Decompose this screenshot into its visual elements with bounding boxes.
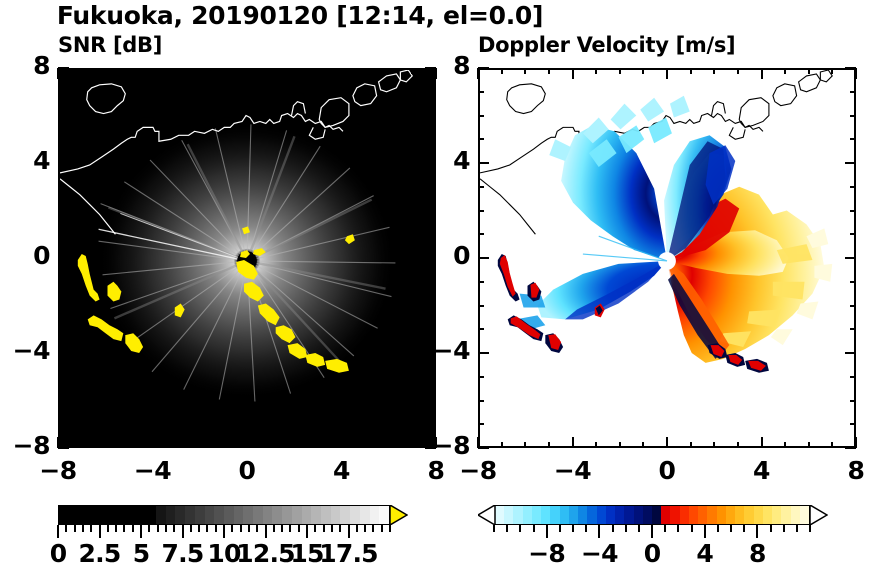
- y-tick-right-snr: [430, 423, 436, 425]
- colorbar-tick: [281, 525, 283, 532]
- x-tick-doppler: [761, 437, 763, 448]
- colorbar-tick: [730, 525, 732, 532]
- colorbar-segment: [495, 506, 504, 524]
- colorbar-tick: [519, 525, 521, 532]
- y-tick-right-doppler: [850, 376, 856, 378]
- colorbar-tick: [107, 525, 109, 532]
- y-tick-doppler: [478, 67, 489, 69]
- y-tick-doppler: [478, 91, 484, 93]
- colorbar-tick: [198, 525, 200, 532]
- colorbar-tick: [533, 525, 535, 532]
- y-tick-right-doppler: [850, 115, 856, 117]
- x-tick-top-snr: [128, 68, 130, 74]
- colorbar-tick: [783, 525, 785, 532]
- colorbar-segment: [69, 506, 79, 524]
- colorbar-segment: [98, 506, 108, 524]
- colorbar-tick: [546, 525, 548, 538]
- y-axis-label-snr: 0: [0, 241, 50, 270]
- colorbar-segment: [578, 506, 587, 524]
- x-tick-doppler: [690, 442, 692, 448]
- y-tick-snr: [58, 352, 69, 354]
- colorbar-segment: [606, 506, 615, 524]
- colorbar-tick: [356, 525, 358, 532]
- y-tick-right-snr: [430, 281, 436, 283]
- x-tick-doppler: [501, 442, 503, 448]
- x-tick-snr: [104, 442, 106, 448]
- x-tick-top-doppler: [501, 68, 503, 74]
- x-tick-snr: [388, 442, 390, 448]
- y-axis-label-snr: −4: [0, 336, 50, 365]
- colorbar-segment: [781, 506, 790, 524]
- colorbar-tick: [206, 525, 208, 532]
- x-tick-top-snr: [246, 68, 248, 79]
- y-tick-doppler: [478, 186, 484, 188]
- colorbar-segment: [560, 506, 569, 524]
- x-tick-top-doppler: [808, 68, 810, 74]
- y-tick-right-doppler: [850, 400, 856, 402]
- colorbar-tick: [756, 525, 758, 538]
- figure-title: Fukuoka, 20190120 [12:14, el=0.0]: [0, 1, 600, 30]
- colorbar-tick: [651, 525, 653, 538]
- colorbar-segment: [175, 506, 185, 524]
- colorbar-tick: [323, 525, 325, 532]
- colorbar-tick: [165, 525, 167, 532]
- colorbar-tick: [598, 525, 600, 538]
- y-tick-right-doppler: [850, 328, 856, 330]
- colorbar-segment: [370, 506, 380, 524]
- colorbar-tick: [612, 525, 614, 532]
- colorbar-segment: [224, 506, 234, 524]
- colorbar-tick: [348, 525, 350, 538]
- colorbar-tick: [339, 525, 341, 532]
- colorbar-tick: [585, 525, 587, 532]
- colorbar-tick: [215, 525, 217, 532]
- y-tick-right-doppler: [850, 423, 856, 425]
- x-tick-top-snr: [293, 68, 295, 74]
- colorbar-tick: [223, 525, 225, 538]
- colorbar-arrow-min-outline: [478, 505, 496, 525]
- colorbar-segment: [360, 506, 370, 524]
- y-tick-snr: [58, 257, 69, 259]
- y-tick-snr: [58, 138, 64, 140]
- x-tick-doppler: [737, 442, 739, 448]
- snr-colorbar[interactable]: [58, 505, 390, 525]
- y-tick-snr: [58, 91, 64, 93]
- doppler-plot-area[interactable]: [478, 68, 856, 448]
- y-tick-snr: [58, 400, 64, 402]
- x-tick-doppler: [524, 442, 526, 448]
- y-tick-doppler: [478, 400, 484, 402]
- x-tick-top-doppler: [524, 68, 526, 74]
- x-tick-top-doppler: [784, 68, 786, 74]
- y-axis-label-doppler: 8: [420, 51, 470, 80]
- y-tick-doppler: [478, 352, 489, 354]
- colorbar-tick: [148, 525, 150, 532]
- x-tick-doppler: [642, 442, 644, 448]
- x-tick-top-doppler: [477, 68, 479, 79]
- y-tick-snr: [58, 305, 64, 307]
- x-tick-top-snr: [175, 68, 177, 74]
- x-tick-doppler: [619, 442, 621, 448]
- colorbar-segment: [137, 506, 147, 524]
- y-tick-doppler: [478, 423, 484, 425]
- colorbar-tick: [331, 525, 333, 532]
- colorbar-tick: [796, 525, 798, 532]
- x-tick-snr: [175, 442, 177, 448]
- y-tick-snr: [58, 328, 64, 330]
- x-tick-top-snr: [81, 68, 83, 74]
- y-tick-right-doppler: [845, 447, 856, 449]
- colorbar-tick: [115, 525, 117, 532]
- colorbar-tick: [372, 525, 374, 532]
- colorbar-segment: [680, 506, 689, 524]
- colorbar-segment: [117, 506, 127, 524]
- radar-figure: Fukuoka, 20190120 [12:14, el=0.0] SNR [d…: [0, 0, 870, 570]
- y-tick-right-doppler: [850, 305, 856, 307]
- x-tick-top-doppler: [572, 68, 574, 79]
- colorbar-tick: [173, 525, 175, 532]
- y-tick-snr: [58, 162, 69, 164]
- colorbar-segment: [661, 506, 670, 524]
- colorbar-tick: [240, 525, 242, 532]
- x-tick-top-snr: [341, 68, 343, 79]
- colorbar-tick: [99, 525, 101, 538]
- y-tick-right-doppler: [845, 352, 856, 354]
- x-axis-label-snr: −8: [18, 456, 98, 485]
- colorbar-tick: [364, 525, 366, 532]
- colorbar-segment: [624, 506, 633, 524]
- colorbar-tick: [625, 525, 627, 532]
- colorbar-tick: [691, 525, 693, 532]
- y-tick-right-snr: [430, 328, 436, 330]
- colorbar-segment: [763, 506, 772, 524]
- snr-plot-area[interactable]: [58, 68, 436, 448]
- colorbar-tick: [704, 525, 706, 538]
- colorbar-tick: [638, 525, 640, 532]
- y-tick-right-doppler: [850, 233, 856, 235]
- y-tick-snr: [58, 281, 64, 283]
- y-tick-right-doppler: [850, 186, 856, 188]
- x-tick-top-snr: [388, 68, 390, 74]
- colorbar-tick: [506, 525, 508, 532]
- y-tick-doppler: [478, 138, 484, 140]
- colorbar-segment: [597, 506, 606, 524]
- x-tick-doppler: [808, 442, 810, 448]
- colorbar-segment: [331, 506, 341, 524]
- x-axis-label-snr: −4: [113, 456, 193, 485]
- y-tick-right-snr: [430, 210, 436, 212]
- x-tick-doppler: [831, 442, 833, 448]
- colorbar-tick: [273, 525, 275, 532]
- colorbar-tick: [809, 525, 811, 532]
- colorbar-tick: [306, 525, 308, 538]
- colorbar-segment: [504, 506, 513, 524]
- x-tick-snr: [152, 437, 154, 448]
- colorbar-segment: [744, 506, 753, 524]
- x-tick-snr: [128, 442, 130, 448]
- colorbar-tick: [157, 525, 159, 532]
- colorbar-segment: [350, 506, 360, 524]
- x-tick-top-snr: [152, 68, 154, 79]
- y-tick-right-snr: [430, 186, 436, 188]
- colorbar-segment: [717, 506, 726, 524]
- colorbar-arrow-max-outline: [390, 505, 408, 525]
- y-axis-label-doppler: 0: [420, 241, 470, 270]
- snr-panel-title: SNR [dB]: [58, 33, 162, 57]
- colorbar-tick: [248, 525, 250, 532]
- x-tick-top-snr: [57, 68, 59, 79]
- colorbar-segment: [78, 506, 88, 524]
- y-tick-right-snr: [430, 400, 436, 402]
- y-tick-right-doppler: [850, 281, 856, 283]
- x-axis-label-doppler: 4: [722, 456, 802, 485]
- colorbar-segment: [59, 506, 69, 524]
- colorbar-tick: [182, 525, 184, 538]
- doppler-data-layer: [480, 70, 854, 446]
- snr-colorbar-wrap: [58, 505, 406, 527]
- y-tick-right-snr: [430, 376, 436, 378]
- x-tick-doppler: [572, 437, 574, 448]
- colorbar-segment: [698, 506, 707, 524]
- colorbar-segment: [532, 506, 541, 524]
- y-tick-snr: [58, 447, 69, 449]
- colorbar-segment: [185, 506, 195, 524]
- colorbar-tick: [74, 525, 76, 532]
- y-axis-label-doppler: −4: [420, 336, 470, 365]
- x-axis-label-snr: 0: [207, 456, 287, 485]
- colorbar-segment: [234, 506, 244, 524]
- colorbar-segment: [791, 506, 800, 524]
- y-axis-label-snr: −8: [0, 431, 50, 460]
- colorbar-segment: [195, 506, 205, 524]
- colorbar-segment: [243, 506, 253, 524]
- colorbar-segment: [205, 506, 215, 524]
- x-tick-snr: [246, 437, 248, 448]
- colorbar-segment: [108, 506, 118, 524]
- x-tick-snr: [81, 442, 83, 448]
- colorbar-segment: [292, 506, 302, 524]
- colorbar-segment: [643, 506, 652, 524]
- colorbar-tick: [717, 525, 719, 532]
- colorbar-segment: [253, 506, 263, 524]
- colorbar-tick: [743, 525, 745, 532]
- colorbar-tick: [664, 525, 666, 532]
- x-tick-top-snr: [364, 68, 366, 74]
- colorbar-segment: [88, 506, 98, 524]
- y-axis-label-snr: 8: [0, 51, 50, 80]
- x-tick-snr: [411, 442, 413, 448]
- y-tick-snr: [58, 115, 64, 117]
- colorbar-tick: [298, 525, 300, 532]
- doppler-colorbar[interactable]: [494, 505, 810, 525]
- snr-data-layer: [60, 70, 434, 446]
- colorbar-tick: [677, 525, 679, 532]
- y-axis-label-doppler: 4: [420, 146, 470, 175]
- colorbar-segment: [523, 506, 532, 524]
- x-axis-label-doppler: −4: [533, 456, 613, 485]
- colorbar-segment: [214, 506, 224, 524]
- x-tick-snr: [222, 442, 224, 448]
- y-tick-right-snr: [430, 138, 436, 140]
- colorbar-tick: [314, 525, 316, 532]
- x-tick-snr: [364, 442, 366, 448]
- x-tick-top-snr: [270, 68, 272, 74]
- colorbar-segment: [272, 506, 282, 524]
- colorbar-tick: [190, 525, 192, 532]
- colorbar-tick: [123, 525, 125, 532]
- x-tick-top-doppler: [619, 68, 621, 74]
- colorbar-tick: [256, 525, 258, 532]
- y-tick-snr: [58, 210, 64, 212]
- colorbar-segment: [156, 506, 166, 524]
- colorbar-tick: [770, 525, 772, 532]
- x-axis-label-doppler: 8: [816, 456, 870, 485]
- y-tick-right-doppler: [850, 210, 856, 212]
- colorbar-tick: [90, 525, 92, 532]
- colorbar-segment: [282, 506, 292, 524]
- colorbar-tick: [289, 525, 291, 532]
- y-tick-snr: [58, 233, 64, 235]
- colorbar-segment: [127, 506, 137, 524]
- y-tick-doppler: [478, 162, 489, 164]
- y-tick-doppler: [478, 305, 484, 307]
- colorbar-segment: [340, 506, 350, 524]
- colorbar-segment: [772, 506, 781, 524]
- y-tick-right-doppler: [845, 257, 856, 259]
- y-tick-snr: [58, 186, 64, 188]
- y-tick-doppler: [478, 115, 484, 117]
- x-tick-top-doppler: [642, 68, 644, 74]
- x-tick-top-doppler: [690, 68, 692, 74]
- doppler-panel-title: Doppler Velocity [m/s]: [478, 33, 735, 57]
- x-axis-label-doppler: 0: [627, 456, 707, 485]
- colorbar-segment: [550, 506, 559, 524]
- colorbar-segment: [321, 506, 331, 524]
- colorbar-tick: [493, 525, 495, 532]
- colorbar-tick: [132, 525, 134, 532]
- colorbar-segment: [615, 506, 624, 524]
- x-tick-top-doppler: [761, 68, 763, 79]
- colorbar-tick: [381, 525, 383, 532]
- colorbar-segment: [166, 506, 176, 524]
- colorbar-tick: [559, 525, 561, 532]
- x-tick-top-snr: [317, 68, 319, 74]
- x-tick-top-doppler: [713, 68, 715, 74]
- y-axis-label-doppler: −8: [420, 431, 470, 460]
- doppler-colorbar-wrap: [478, 505, 826, 527]
- x-tick-doppler: [595, 442, 597, 448]
- x-tick-doppler: [548, 442, 550, 448]
- y-tick-doppler: [478, 233, 484, 235]
- colorbar-segment: [302, 506, 312, 524]
- y-axis-label-snr: 4: [0, 146, 50, 175]
- colorbar-tick-label: 17.5: [309, 539, 389, 568]
- x-axis-label-snr: 4: [302, 456, 382, 485]
- x-tick-top-doppler: [548, 68, 550, 74]
- y-tick-doppler: [478, 210, 484, 212]
- colorbar-segment: [726, 506, 735, 524]
- y-tick-doppler: [478, 376, 484, 378]
- colorbar-tick: [572, 525, 574, 532]
- colorbar-segment: [754, 506, 763, 524]
- colorbar-tick: [57, 525, 59, 538]
- y-tick-doppler: [478, 257, 489, 259]
- y-tick-doppler: [478, 328, 484, 330]
- colorbar-segment: [670, 506, 679, 524]
- colorbar-segment: [263, 506, 273, 524]
- colorbar-segment: [707, 506, 716, 524]
- colorbar-segment: [311, 506, 321, 524]
- y-tick-right-snr: [430, 91, 436, 93]
- x-tick-top-doppler: [737, 68, 739, 74]
- x-tick-top-doppler: [595, 68, 597, 74]
- colorbar-segment: [652, 506, 661, 524]
- colorbar-tick-label: 8: [717, 539, 797, 568]
- colorbar-segment: [569, 506, 578, 524]
- x-tick-top-snr: [104, 68, 106, 74]
- x-tick-snr: [293, 442, 295, 448]
- colorbar-segment: [146, 506, 156, 524]
- colorbar-segment: [513, 506, 522, 524]
- y-tick-right-doppler: [845, 162, 856, 164]
- colorbar-tick: [265, 525, 267, 538]
- x-tick-snr: [341, 437, 343, 448]
- colorbar-segment: [800, 506, 809, 524]
- x-tick-doppler: [713, 442, 715, 448]
- colorbar-tick: [140, 525, 142, 538]
- colorbar-tick: [82, 525, 84, 532]
- y-tick-snr: [58, 67, 69, 69]
- colorbar-segment: [735, 506, 744, 524]
- x-tick-top-snr: [199, 68, 201, 74]
- colorbar-segment: [587, 506, 596, 524]
- x-tick-top-snr: [222, 68, 224, 74]
- x-tick-top-doppler: [666, 68, 668, 79]
- y-tick-right-snr: [430, 305, 436, 307]
- y-tick-doppler: [478, 447, 489, 449]
- x-tick-snr: [317, 442, 319, 448]
- y-tick-right-snr: [430, 115, 436, 117]
- y-tick-snr: [58, 423, 64, 425]
- colorbar-tick: [389, 525, 391, 532]
- y-tick-doppler: [478, 281, 484, 283]
- colorbar-tick: [65, 525, 67, 532]
- y-tick-right-doppler: [850, 138, 856, 140]
- colorbar-segment: [634, 506, 643, 524]
- colorbar-tick: [231, 525, 233, 532]
- x-tick-snr: [199, 442, 201, 448]
- colorbar-segment: [379, 506, 389, 524]
- x-tick-top-doppler: [855, 68, 857, 79]
- x-tick-top-doppler: [831, 68, 833, 74]
- x-tick-doppler: [666, 437, 668, 448]
- colorbar-arrow-max-outline: [810, 505, 828, 525]
- y-tick-right-snr: [430, 233, 436, 235]
- x-tick-snr: [270, 442, 272, 448]
- y-tick-right-doppler: [850, 91, 856, 93]
- colorbar-segment: [689, 506, 698, 524]
- y-tick-right-doppler: [845, 67, 856, 69]
- x-axis-label-doppler: −8: [438, 456, 518, 485]
- colorbar-segment: [541, 506, 550, 524]
- x-tick-top-snr: [411, 68, 413, 74]
- y-tick-snr: [58, 376, 64, 378]
- x-tick-doppler: [784, 442, 786, 448]
